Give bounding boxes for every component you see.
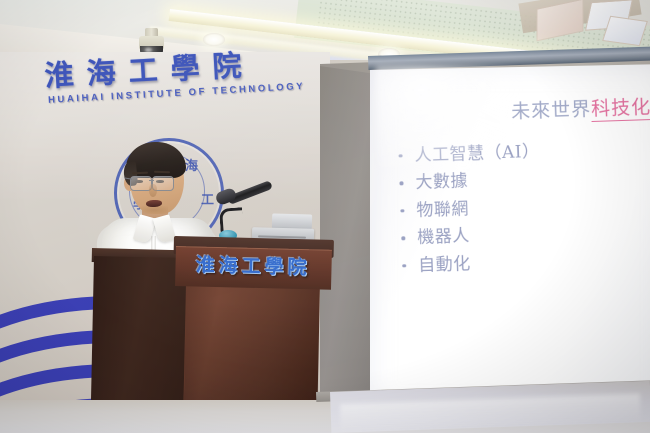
slide-bullet-list: 人工智慧（AI） 大數據 物聯網 機器人 自動化 bbox=[382, 134, 650, 281]
nose bbox=[149, 184, 157, 197]
ceiling-downlight bbox=[203, 33, 225, 46]
podium-sign-text: 淮海工學院 bbox=[195, 250, 311, 280]
ceiling-panel bbox=[602, 16, 648, 46]
chin-shadow bbox=[140, 206, 168, 214]
projection-screen: 未來世界科技化 人工智慧（AI） 大數據 物聯網 機器人 自動化 bbox=[316, 52, 650, 418]
slide-title-primary: 未來世界 bbox=[511, 98, 592, 123]
slide-title: 未來世界科技化 bbox=[381, 97, 650, 128]
eyeglasses-bridge bbox=[149, 180, 154, 181]
slide-title-accent: 科技化 bbox=[591, 96, 650, 122]
presentation-slide: 未來世界科技化 人工智慧（AI） 大數據 物聯網 機器人 自動化 bbox=[380, 69, 650, 388]
presentation-photo: 淮海工學院 HUAIHAI INSTITUTE OF TECHNOLOGY 淮 … bbox=[0, 0, 650, 433]
